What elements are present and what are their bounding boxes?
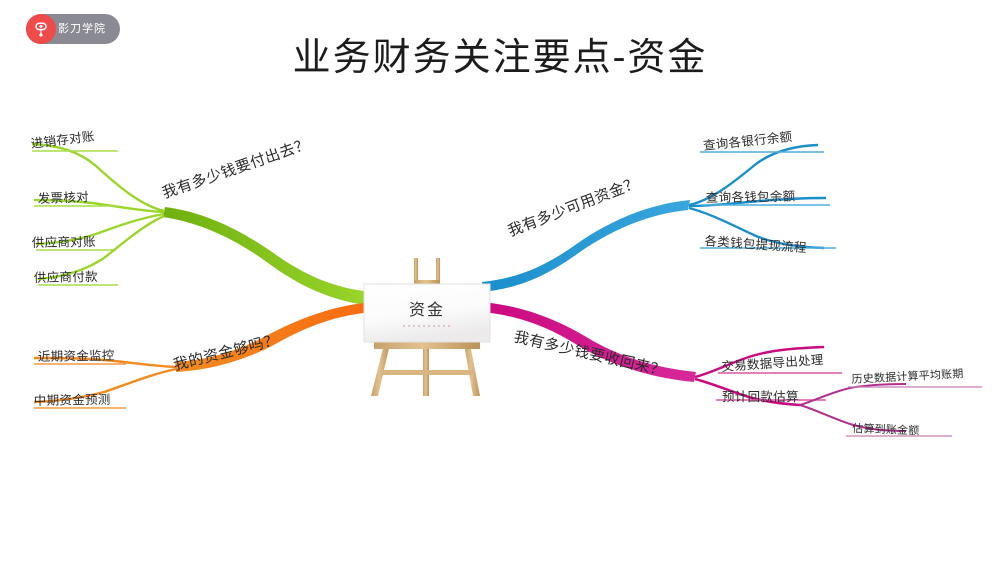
leaf-label-pay-out-3[interactable]: 供应商付款 xyxy=(34,266,98,286)
center-label: 资金 xyxy=(409,300,445,319)
leaf-label-receivables-1[interactable]: 预计回款估算 xyxy=(722,386,799,405)
easel-icon: 资金 xyxy=(352,252,502,400)
page-title: 业务财务关注要点-资金 xyxy=(0,26,1000,81)
leaf-label-pay-out-2[interactable]: 供应商对账 xyxy=(32,231,96,251)
leaf-label-pay-out-1[interactable]: 发票核对 xyxy=(37,186,89,207)
sub-label-receivables-1-1[interactable]: 估算到账金额 xyxy=(852,420,920,438)
leaf-label-enough-funds-1[interactable]: 中期资金预测 xyxy=(34,389,111,409)
leaf-label-enough-funds-0[interactable]: 近期资金监控 xyxy=(38,345,115,365)
center-easel[interactable]: 资金 xyxy=(352,252,502,400)
mindmap-canvas: 影刀学院 业务财务关注要点-资金 xyxy=(0,0,1000,563)
leaf-label-available-funds-1[interactable]: 查询各钱包余额 xyxy=(706,185,796,206)
